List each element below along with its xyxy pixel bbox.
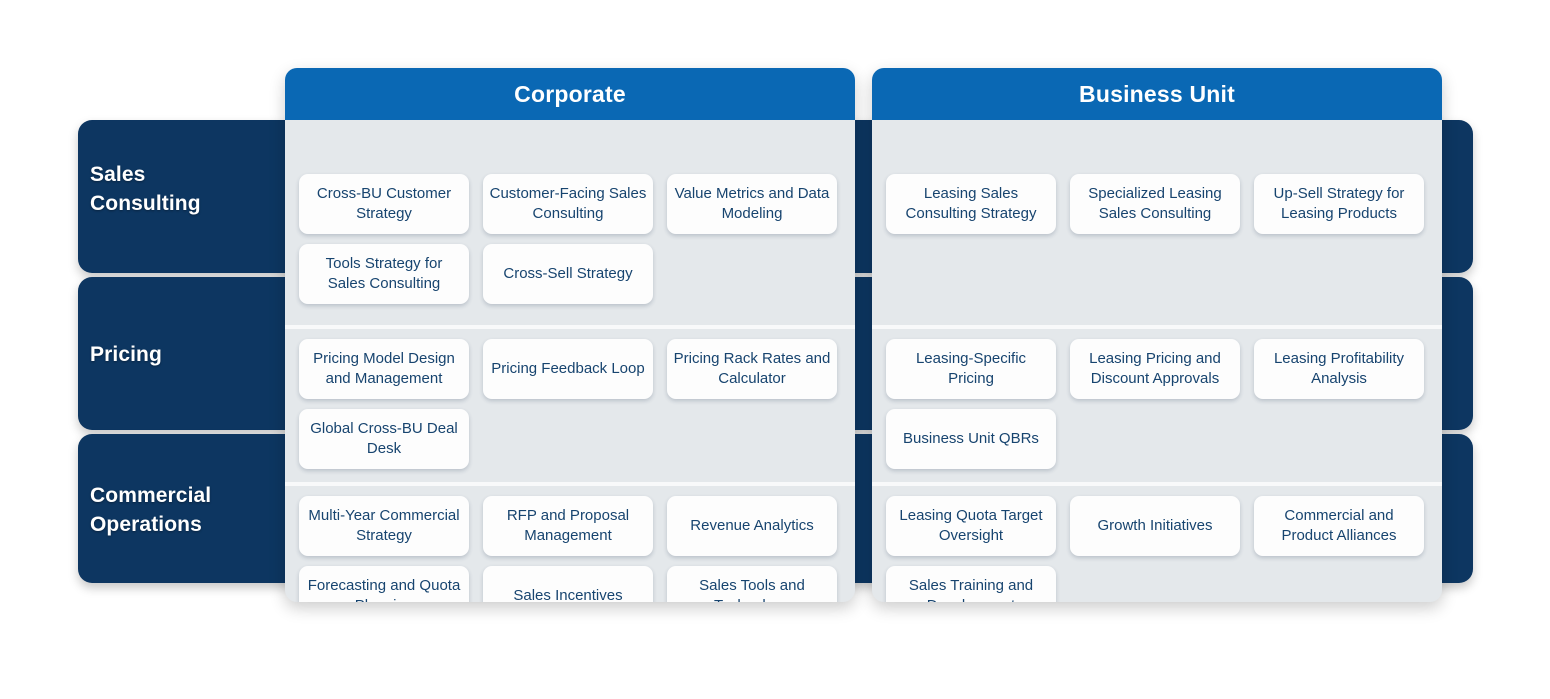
capability-card[interactable]: Leasing-Specific Pricing [886,339,1056,399]
capability-card[interactable]: Pricing Model Design and Management [299,339,469,399]
capability-card[interactable]: Leasing Pricing and Discount Approvals [1070,339,1240,399]
column-header-corporate: Corporate [285,68,855,120]
cell-group-corporate-commercial-operations: Multi-Year Commercial Strategy RFP and P… [285,486,855,602]
capability-card[interactable]: Tools Strategy for Sales Consulting [299,244,469,304]
capability-card[interactable]: Specialized Leasing Sales Consulting [1070,174,1240,234]
cell-group-business-unit-sales-consulting: Leasing Sales Consulting Strategy Specia… [872,164,1442,325]
capability-card[interactable]: Multi-Year Commercial Strategy [299,496,469,556]
capability-card[interactable]: Cross-BU Customer Strategy [299,174,469,234]
capability-card[interactable]: Leasing Sales Consulting Strategy [886,174,1056,234]
capability-card[interactable]: Commercial and Product Alliances [1254,496,1424,556]
capability-card[interactable]: Sales Incentives [483,566,653,602]
capability-matrix: Sales Consulting Pricing Commercial Oper… [0,0,1550,699]
capability-card[interactable]: Business Unit QBRs [886,409,1056,469]
capability-card[interactable]: Sales Tools and Technology [667,566,837,602]
capability-card[interactable]: RFP and Proposal Management [483,496,653,556]
capability-card[interactable]: Sales Training and Development [886,566,1056,602]
cell-group-business-unit-commercial-operations: Leasing Quota Target Oversight Growth In… [872,486,1442,602]
capability-card[interactable]: Global Cross-BU Deal Desk [299,409,469,469]
row-label-sales-consulting: Sales Consulting [90,160,270,218]
capability-card[interactable]: Leasing Quota Target Oversight [886,496,1056,556]
capability-card[interactable]: Forecasting and Quota Planning [299,566,469,602]
column-panel-corporate: Corporate Cross-BU Customer Strategy Cus… [285,68,855,602]
capability-card[interactable]: Growth Initiatives [1070,496,1240,556]
capability-card[interactable]: Value Metrics and Data Modeling [667,174,837,234]
capability-card[interactable]: Pricing Feedback Loop [483,339,653,399]
capability-card[interactable]: Leasing Profitability Analysis [1254,339,1424,399]
capability-card[interactable]: Revenue Analytics [667,496,837,556]
row-label-pricing: Pricing [90,340,270,369]
capability-card[interactable]: Cross-Sell Strategy [483,244,653,304]
column-body-corporate: Cross-BU Customer Strategy Customer-Faci… [285,120,855,602]
column-panel-business-unit: Business Unit Leasing Sales Consulting S… [872,68,1442,602]
capability-card[interactable]: Pricing Rack Rates and Calculator [667,339,837,399]
column-header-business-unit: Business Unit [872,68,1442,120]
capability-card[interactable]: Customer-Facing Sales Consulting [483,174,653,234]
row-label-commercial-operations: Commercial Operations [90,481,270,539]
cell-group-corporate-sales-consulting: Cross-BU Customer Strategy Customer-Faci… [285,164,855,325]
capability-card[interactable]: Up-Sell Strategy for Leasing Products [1254,174,1424,234]
cell-group-business-unit-pricing: Leasing-Specific Pricing Leasing Pricing… [872,329,1442,482]
column-body-business-unit: Leasing Sales Consulting Strategy Specia… [872,120,1442,602]
cell-group-corporate-pricing: Pricing Model Design and Management Pric… [285,329,855,482]
